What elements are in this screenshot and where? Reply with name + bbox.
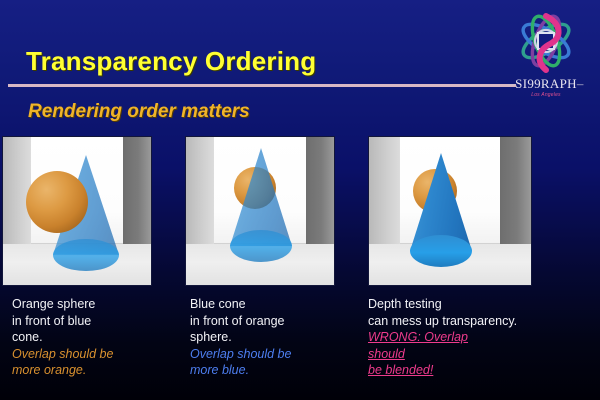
title-divider <box>8 84 516 87</box>
logo-city-text: Los Angeles <box>500 92 592 98</box>
cone-base-ellipse <box>53 239 119 271</box>
caption-note: more blue. <box>190 362 365 379</box>
caption-note: be blended! <box>368 362 568 379</box>
caption-line: Orange sphere <box>12 296 187 313</box>
caption-line: can mess up transparency. <box>368 313 568 330</box>
render-panel-sphere-in-front <box>2 136 152 286</box>
caption-depth-test-wrong: Depth testing can mess up transparency. … <box>368 296 568 379</box>
slide-subtitle: Rendering order matters <box>28 101 250 123</box>
caption-line: Blue cone <box>190 296 365 313</box>
orange-sphere-shape <box>26 171 88 233</box>
caption-note: should <box>368 346 568 363</box>
caption-cone-in-front: Blue cone in front of orange sphere. Ove… <box>190 296 365 379</box>
logo-rings-icon <box>500 8 592 78</box>
caption-sphere-in-front: Orange sphere in front of blue cone. Ove… <box>12 296 187 379</box>
caption-note: Overlap should be <box>190 346 365 363</box>
blue-cone-shape <box>410 153 472 267</box>
render-panel-depth-test-wrong <box>368 136 532 286</box>
blue-cone-shape <box>230 148 292 262</box>
cone-base-ellipse <box>230 230 292 262</box>
caption-line: Depth testing <box>368 296 568 313</box>
logo-dash-right: – <box>577 76 584 91</box>
cone-base-ellipse <box>410 235 472 267</box>
slide-canvas: Transparency Ordering Rendering order ma… <box>0 0 600 400</box>
logo-wordmark-text: SI99RAPH <box>515 76 577 91</box>
caption-line: cone. <box>12 329 187 346</box>
logo-wordmark: –SI99RAPH– <box>500 76 592 92</box>
caption-line: sphere. <box>190 329 365 346</box>
siggraph-logo: –SI99RAPH– Los Angeles <box>500 8 592 104</box>
caption-note: more orange. <box>12 362 187 379</box>
caption-note: WRONG: Overlap <box>368 329 568 346</box>
page-title: Transparency Ordering <box>26 46 316 77</box>
render-panel-cone-in-front <box>185 136 335 286</box>
caption-line: in front of blue <box>12 313 187 330</box>
caption-note: Overlap should be <box>12 346 187 363</box>
caption-line: in front of orange <box>190 313 365 330</box>
